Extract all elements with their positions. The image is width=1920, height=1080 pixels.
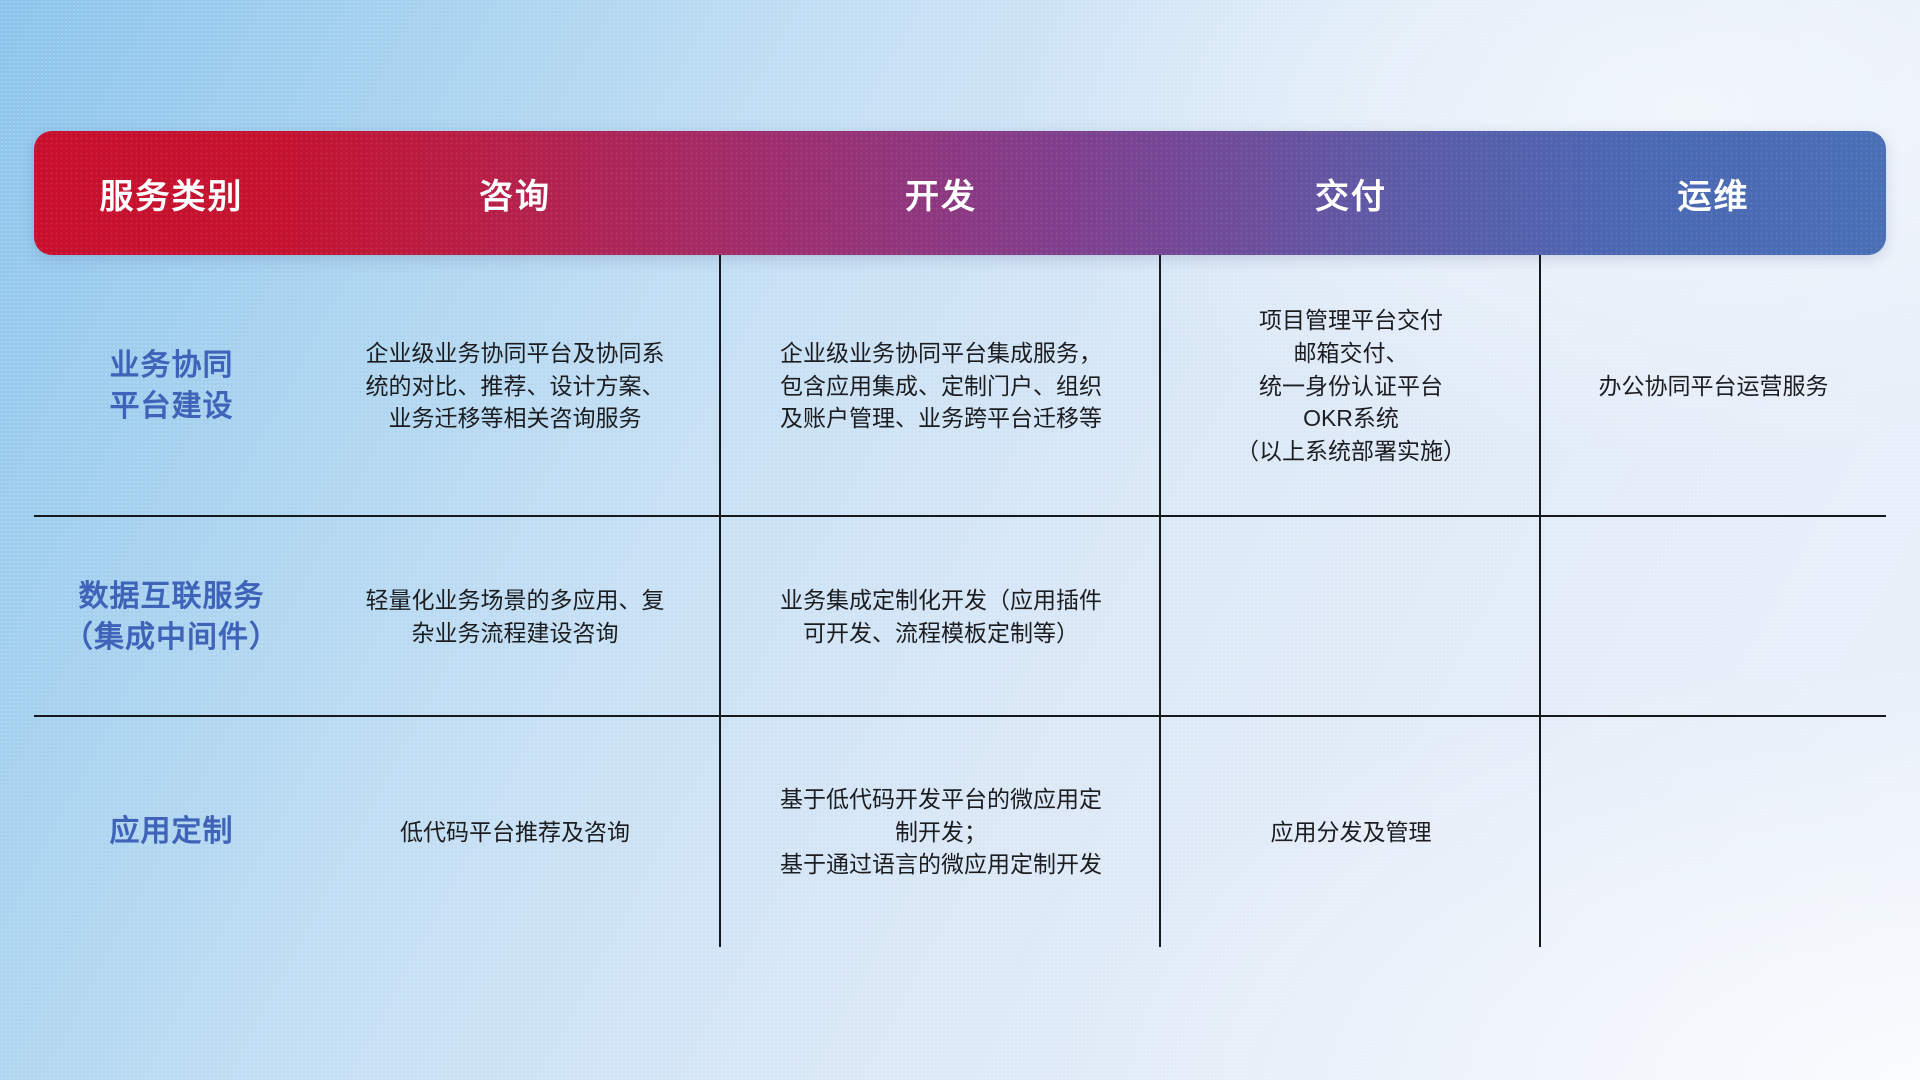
cell-development: 业务集成定制化开发（应用插件 可开发、流程模板定制等） (721, 517, 1161, 717)
cell-consulting: 低代码平台推荐及咨询 (309, 717, 721, 947)
table-row: 业务协同 平台建设 企业级业务协同平台及协同系 统的对比、推荐、设计方案、 业务… (34, 255, 1886, 517)
cell-operations (1541, 517, 1886, 717)
row-category-label: 业务协同 平台建设 (34, 255, 309, 517)
header-delivery: 交付 (1161, 131, 1541, 255)
row-category-label: 数据互联服务 （集成中间件） (34, 517, 309, 717)
header-operations: 运维 (1541, 131, 1886, 255)
cell-delivery: 项目管理平台交付 邮箱交付、 统一身份认证平台 OKR系统 （以上系统部署实施） (1161, 255, 1541, 517)
cell-delivery: 应用分发及管理 (1161, 717, 1541, 947)
cell-development: 基于低代码开发平台的微应用定 制开发； 基于通过语言的微应用定制开发 (721, 717, 1161, 947)
table-body: 业务协同 平台建设 企业级业务协同平台及协同系 统的对比、推荐、设计方案、 业务… (34, 255, 1886, 947)
cell-development: 企业级业务协同平台集成服务， 包含应用集成、定制门户、组织 及账户管理、业务跨平… (721, 255, 1161, 517)
header-consulting: 咨询 (309, 131, 721, 255)
table-row: 数据互联服务 （集成中间件） 轻量化业务场景的多应用、复 杂业务流程建设咨询 业… (34, 517, 1886, 717)
service-matrix-table: 服务类别 咨询 开发 交付 运维 业务协同 平台建设 企业级业务协同平台及协同系… (34, 131, 1886, 947)
header-development: 开发 (721, 131, 1161, 255)
row-category-label: 应用定制 (34, 717, 309, 947)
cell-consulting: 企业级业务协同平台及协同系 统的对比、推荐、设计方案、 业务迁移等相关咨询服务 (309, 255, 721, 517)
cell-operations: 办公协同平台运营服务 (1541, 255, 1886, 517)
cell-consulting: 轻量化业务场景的多应用、复 杂业务流程建设咨询 (309, 517, 721, 717)
table-header-row: 服务类别 咨询 开发 交付 运维 (34, 131, 1886, 255)
cell-operations (1541, 717, 1886, 947)
cell-delivery (1161, 517, 1541, 717)
header-service-category: 服务类别 (34, 131, 309, 255)
table-row: 应用定制 低代码平台推荐及咨询 基于低代码开发平台的微应用定 制开发； 基于通过… (34, 717, 1886, 947)
